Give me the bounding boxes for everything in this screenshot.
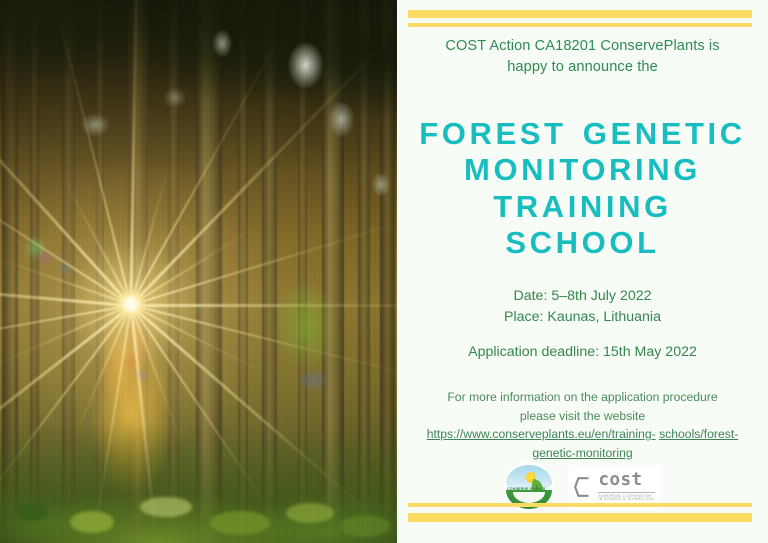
content-pane: COST Action CA18201 ConservePlants is ha… [397,0,768,543]
title-line-2: MONITORING [411,152,754,188]
top-thick-stripe [408,10,752,18]
announcement-line-1: COST Action CA18201 ConservePlants is [415,36,750,57]
more-info-line-2: please visit the website [425,407,740,426]
event-details: Date: 5–8th July 2022 Place: Kaunas, Lit… [415,286,750,363]
bottom-thin-stripe [408,503,752,507]
title-line-3: TRAINING [411,189,754,225]
cost-tagline-line-2: IN SCIENCE & TECHNOLOGY [598,498,654,502]
bottom-thick-stripe [408,513,752,522]
page-title: FOREST GENETIC MONITORING TRAINING SCHOO… [411,116,754,261]
application-deadline: Application deadline: 15th May 2022 [415,342,750,363]
more-information: For more information on the application … [425,388,740,462]
more-info-line-1: For more information on the application … [425,388,740,407]
details-spacer [415,328,750,342]
cost-wordmark: cost [598,472,654,490]
announcement-line-2: happy to announce the [415,57,750,78]
website-link-line-1[interactable]: https://www.conserveplants.eu/en/trainin… [427,427,656,441]
announcement-text: COST Action CA18201 ConservePlants is ha… [415,36,750,77]
title-line-4: SCHOOL [411,225,754,261]
title-line-1: FOREST GENETIC [411,116,754,152]
poster-announcement: COST Action CA18201 ConservePlants is ha… [0,0,768,543]
top-thin-stripe [408,23,752,27]
event-place: Place: Kaunas, Lithuania [415,307,750,328]
photo-grain [0,0,397,543]
event-date: Date: 5–8th July 2022 [415,286,750,307]
cost-tagline: EUROPEAN COOPERATION IN SCIENCE & TECHNO… [598,492,654,501]
cost-hexagon-icon [574,476,594,498]
forest-photo [0,0,397,543]
